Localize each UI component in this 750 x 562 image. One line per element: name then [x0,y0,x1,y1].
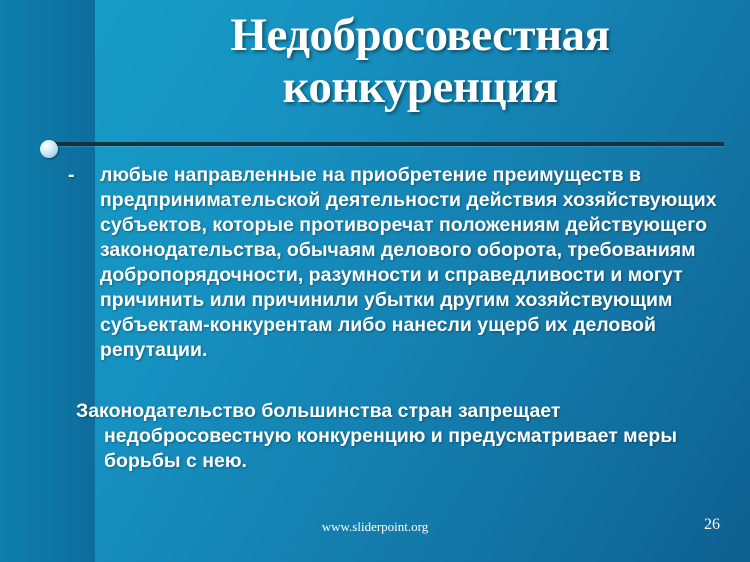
slide-title: Недобросовестная конкуренция [100,10,740,113]
title-divider [48,142,724,146]
footer-url: www.sliderpoint.org [0,519,750,535]
body-paragraph-1-text: любые направленные на приобретение преим… [100,164,717,361]
title-line-2: конкуренция [100,62,740,114]
body-paragraph-2-lead: Законодательство большинства стран запре… [76,400,560,422]
slide: Недобросовестная конкуренция - любые нап… [0,0,750,562]
slide-page-number: 26 [704,516,720,534]
title-line-1: Недобросовестная [100,10,740,62]
bullet-dash-icon: - [68,163,75,188]
body-paragraph-1: - любые направленные на приобретение пре… [68,163,728,363]
body-paragraph-2: Законодательство большинства стран запре… [68,399,728,474]
body-paragraph-2-rest: недобросовестную конкуренцию и предусмат… [76,424,728,474]
slide-body: - любые направленные на приобретение пре… [68,163,728,473]
divider-bullet-icon [40,140,58,158]
